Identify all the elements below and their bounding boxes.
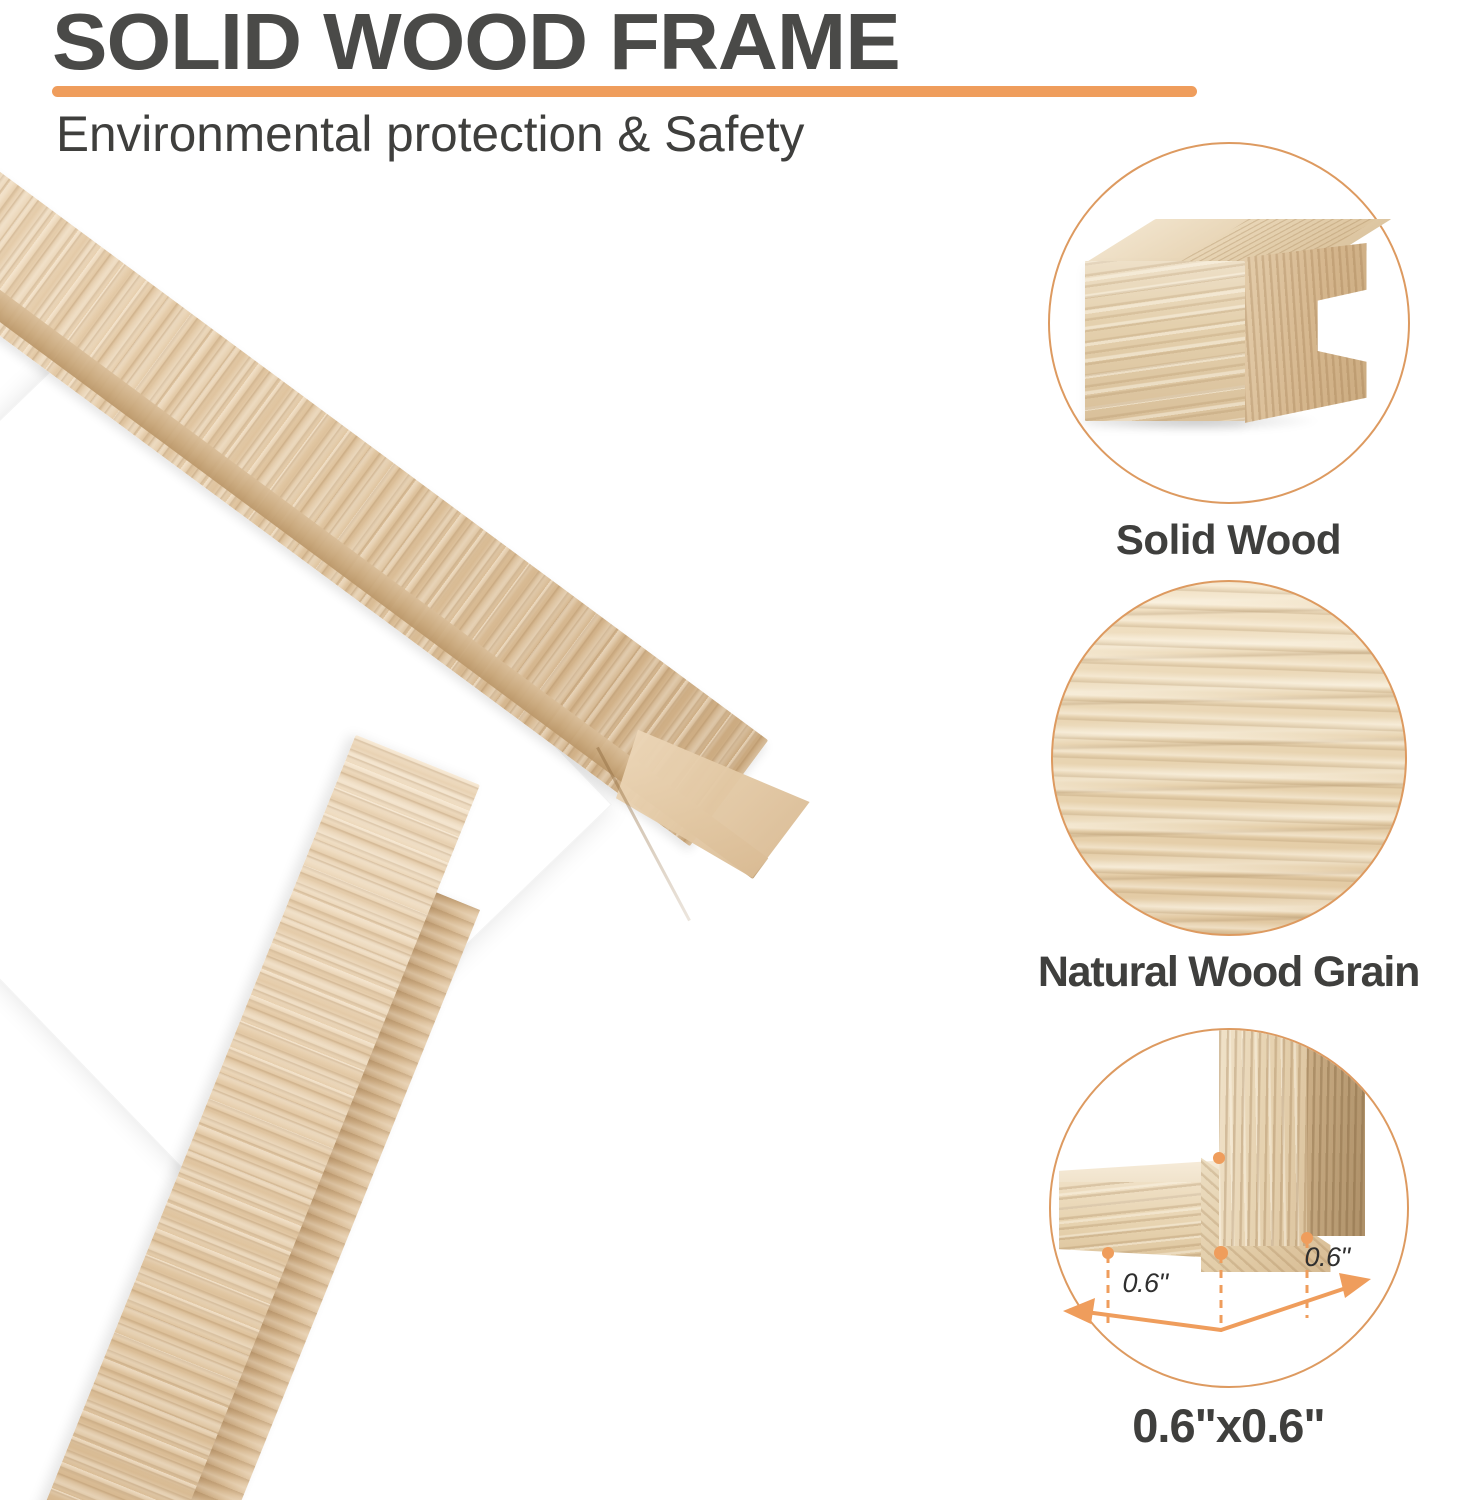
frame-corner-photo: les <box>0 150 990 1500</box>
feature-caption-solid-wood: Solid Wood <box>990 518 1467 562</box>
product-infographic: les SOLID WOOD FRAME Environmental prote… <box>0 0 1467 1500</box>
dimension-label-right: 0.6" <box>1305 1242 1350 1273</box>
feature-column: Solid Wood Natural Wood Grain <box>990 0 1467 1500</box>
page-title: SOLID WOOD FRAME <box>52 0 900 88</box>
feature-solid-wood: Solid Wood <box>990 142 1467 562</box>
wood-molding-profile-icon <box>1079 213 1379 433</box>
header: SOLID WOOD FRAME Environmental protectio… <box>0 0 1230 170</box>
frame-corner-dimension-icon: 0.6" 0.6" <box>1051 1030 1407 1386</box>
title-underline-rule <box>52 86 1197 97</box>
dimension-arrows-svg <box>1051 1030 1411 1390</box>
feature-natural-wood-grain: Natural Wood Grain <box>990 580 1467 995</box>
wood-grain-swatch-icon <box>1051 580 1407 936</box>
frame-dimension-circle: 0.6" 0.6" <box>1049 1028 1409 1388</box>
dimension-label-left: 0.6" <box>1123 1268 1168 1299</box>
feature-caption-dimensions: 0.6"x0.6" <box>990 1402 1467 1451</box>
feature-frame-dimensions: 0.6" 0.6" 0.6"x0.6" <box>990 1028 1467 1451</box>
feature-caption-wood-grain: Natural Wood Grain <box>990 950 1467 995</box>
page-subtitle: Environmental protection & Safety <box>56 104 804 164</box>
solid-wood-circle <box>1048 142 1410 504</box>
